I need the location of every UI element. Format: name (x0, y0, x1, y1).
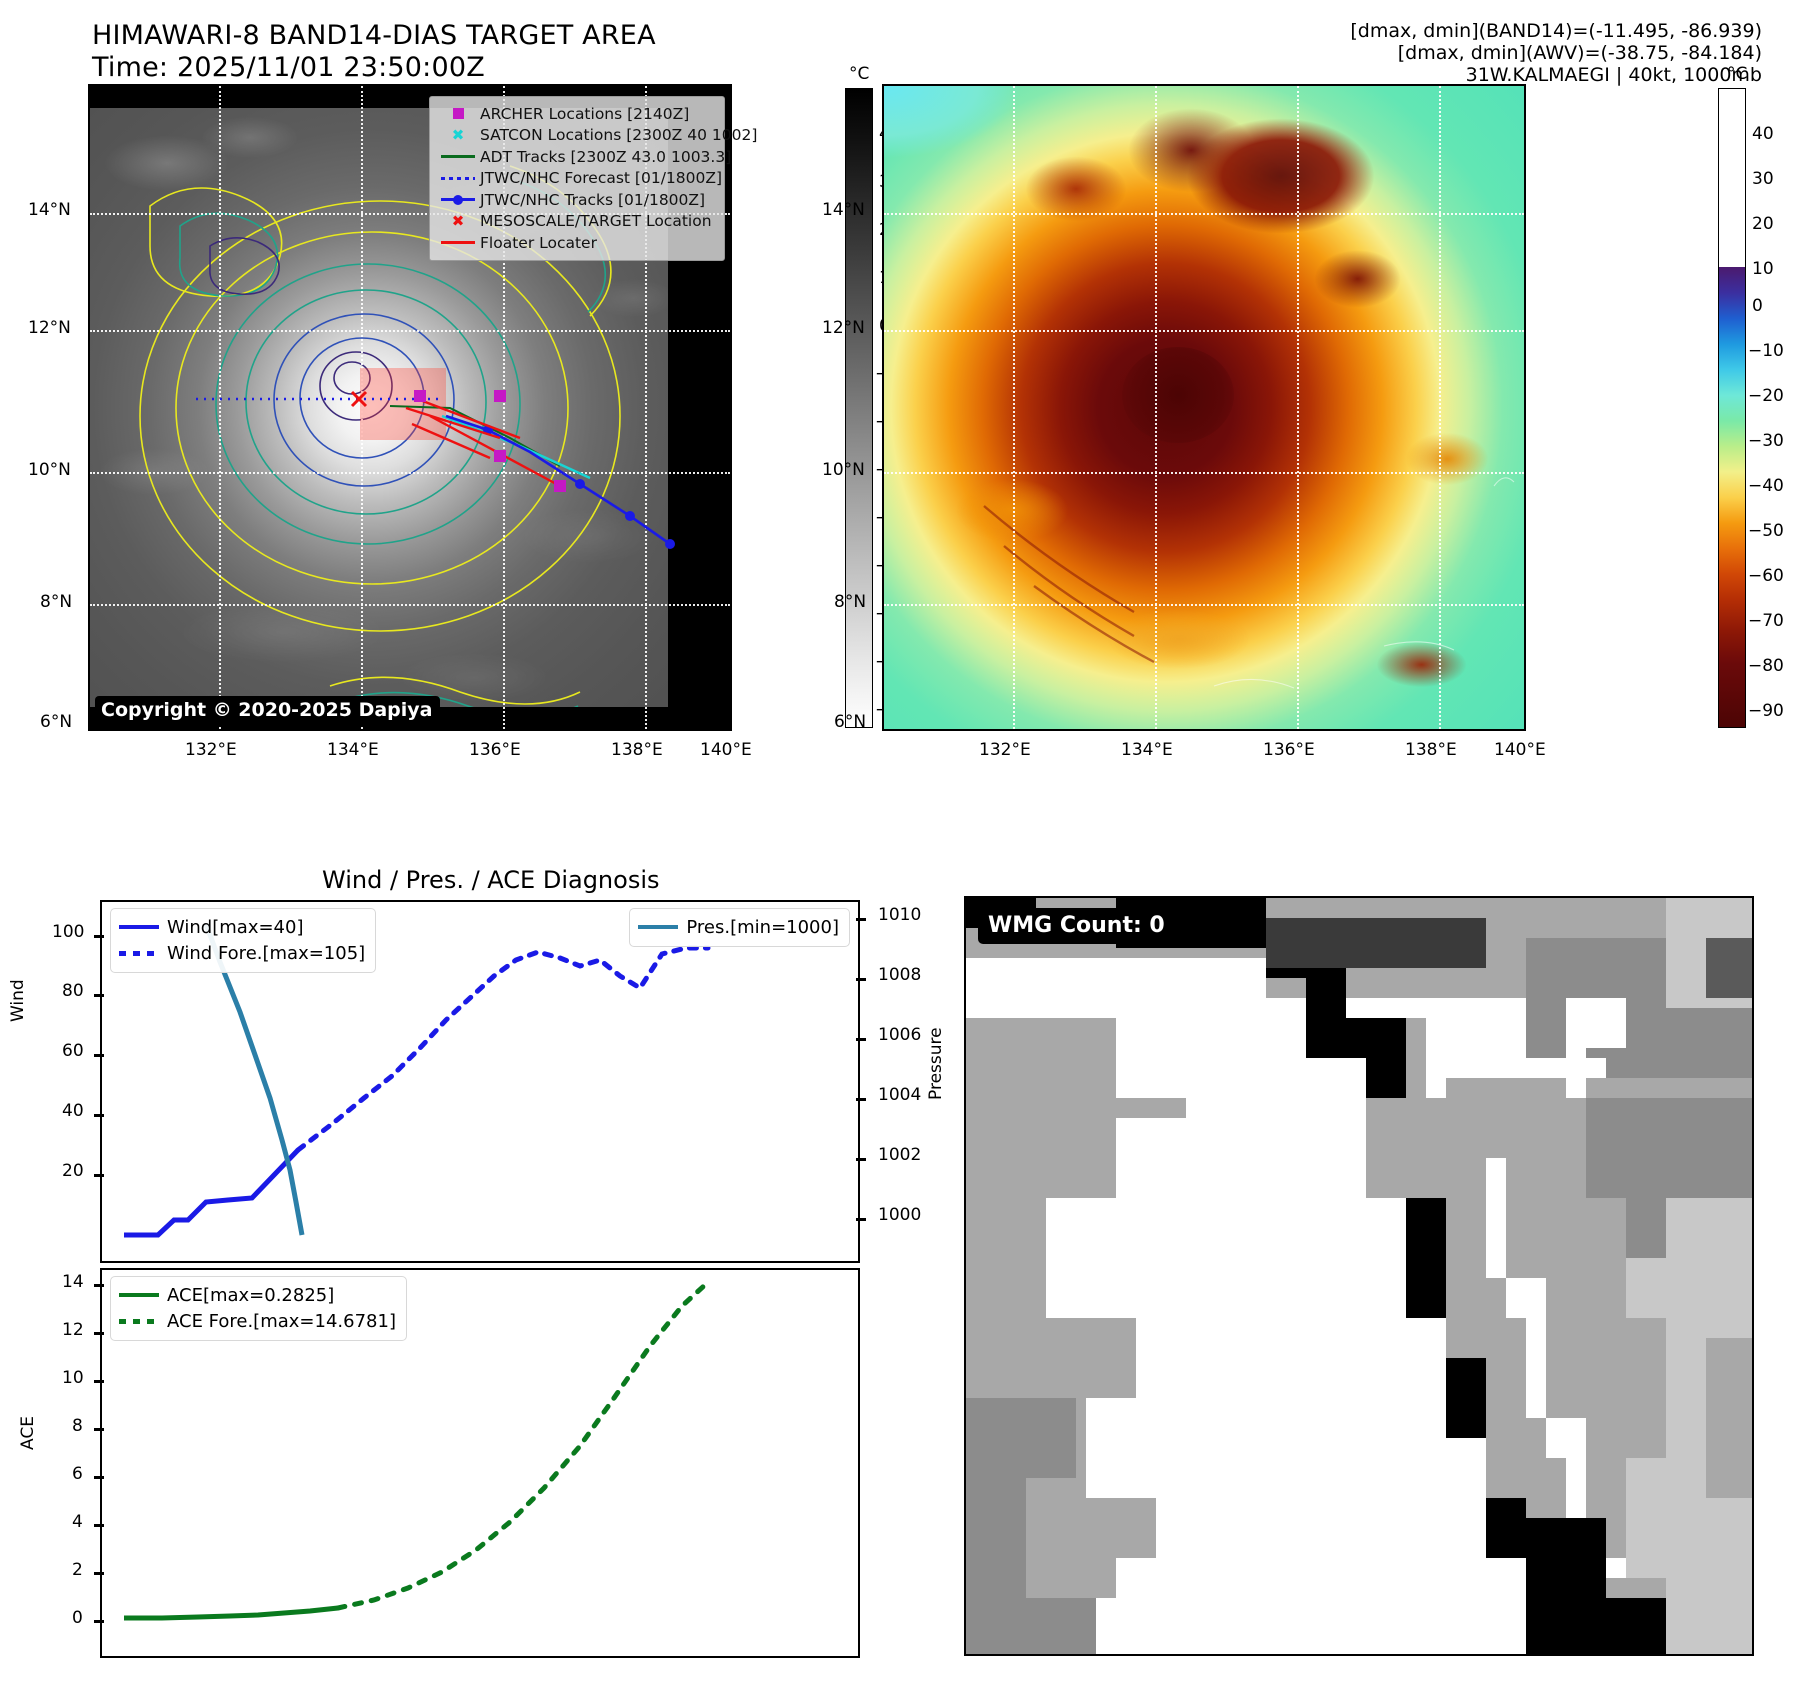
band14-colorbar (845, 88, 873, 728)
pressure-ytick (856, 1098, 866, 1101)
diagnosis-chart-title: Wind / Pres. / ACE Diagnosis (322, 866, 660, 894)
legend-label: ARCHER Locations [2140Z] (480, 105, 689, 123)
awv-lon-tick: 134°E (1121, 740, 1173, 760)
ace-legend[interactable]: ACE[max=0.2825] ACE Fore.[max=14.6781] (110, 1276, 407, 1341)
pressure-ytick (856, 978, 866, 981)
awv-gridline-lat (884, 213, 1524, 215)
wind-ytick-label: 20 (62, 1161, 84, 1181)
pressure-ytick (856, 918, 866, 921)
ace-ytick (94, 1284, 104, 1287)
pressure-ytick (856, 1218, 866, 1221)
legend-label: Pres.[min=1000] (686, 917, 839, 938)
pressure-ytick-label: 1002 (878, 1145, 921, 1165)
band14-lon-tick: 136°E (469, 740, 521, 760)
wind-observed-line (124, 1150, 298, 1235)
floater-line-icon (436, 232, 480, 254)
awv-cbar-tick: −50 (1748, 521, 1784, 541)
wmg-count-badge: WMG Count: 0 (978, 908, 1177, 944)
adt-line-icon (436, 146, 480, 168)
pressure-ytick-label: 1000 (878, 1205, 921, 1225)
legend-label: ADT Tracks [2300Z 43.0 1003.3] (480, 148, 731, 166)
band14-lat-tick: 8°N (40, 592, 72, 612)
legend-label: SATCON Locations [2300Z 40 1002] (480, 126, 757, 144)
wind-ytick-label: 60 (62, 1041, 84, 1061)
header-storm-info: 31W.KALMAEGI | 40kt, 1000mb (1466, 64, 1762, 86)
legend-label: ACE Fore.[max=14.6781] (167, 1311, 396, 1332)
wind-legend[interactable]: Wind[max=40] Wind Fore.[max=105] (110, 908, 376, 973)
legend-item-jtwc-forecast[interactable]: JTWC/NHC Forecast [01/1800Z] (436, 168, 716, 190)
ace-ytick (94, 1572, 104, 1575)
wind-pressure-chart[interactable]: Wind[max=40] Wind Fore.[max=105] Pres.[m… (100, 900, 860, 1263)
legend-label: Floater Locater (480, 234, 597, 252)
awv-gridline-lon (1297, 86, 1299, 729)
ace-ytick (94, 1428, 104, 1431)
pressure-axis-label: Pressure (926, 1027, 946, 1100)
ace-ytick-label: 2 (72, 1560, 83, 1580)
legend-label: JTWC/NHC Forecast [01/1800Z] (480, 169, 722, 187)
awv-lon-tick: 132°E (979, 740, 1031, 760)
awv-lat-tick: 10°N (822, 460, 865, 480)
awv-satellite-image[interactable] (884, 86, 1524, 729)
awv-cbar-tick: −20 (1748, 386, 1784, 406)
awv-cbar-tick: −90 (1748, 701, 1784, 721)
band14-legend[interactable]: ARCHER Locations [2140Z] ✖ SATCON Locati… (429, 96, 725, 261)
band14-lat-tick: 10°N (28, 460, 71, 480)
wind-forecast-line (298, 948, 708, 1150)
legend-item-ace-forecast[interactable]: ACE Fore.[max=14.6781] (119, 1308, 396, 1334)
wind-ytick-label: 100 (52, 922, 84, 942)
header-dmax-awv: [dmax, dmin](AWV)=(-38.75, -84.184) (1398, 42, 1762, 64)
pressure-ytick-label: 1008 (878, 965, 921, 985)
ace-solid-line-icon (119, 1293, 167, 1297)
archer-square-icon (436, 103, 480, 125)
awv-lat-tick: 6°N (834, 712, 866, 732)
awv-cbar-tick: 40 (1752, 124, 1774, 144)
awv-gridline-lat (884, 472, 1524, 474)
awv-gridline-lon (1013, 86, 1015, 729)
band14-lon-tick: 138°E (611, 740, 663, 760)
ace-observed-line (124, 1608, 338, 1618)
awv-colorbar-unit: °C (1727, 64, 1747, 84)
ace-ytick-label: 8 (72, 1416, 83, 1436)
wind-solid-line-icon (119, 925, 167, 929)
legend-item-wind[interactable]: Wind[max=40] (119, 914, 365, 940)
band14-lat-tick: 12°N (28, 318, 71, 338)
band14-lat-tick: 14°N (28, 200, 71, 220)
awv-lat-tick: 14°N (822, 200, 865, 220)
awv-lat-tick: 8°N (834, 592, 866, 612)
wind-ytick-label: 80 (62, 981, 84, 1001)
awv-gridline-lat (884, 604, 1524, 606)
ace-ytick (94, 1620, 104, 1623)
awv-cbar-tick: −10 (1748, 341, 1784, 361)
mesoscale-x-icon: ✖ (436, 211, 480, 233)
legend-item-satcon[interactable]: ✖ SATCON Locations [2300Z 40 1002] (436, 125, 716, 147)
ace-ytick-label: 14 (62, 1272, 84, 1292)
ace-ytick-label: 12 (62, 1320, 84, 1340)
wind-ytick (94, 1054, 104, 1057)
wind-ytick (94, 1174, 104, 1177)
awv-lon-tick: 136°E (1263, 740, 1315, 760)
legend-label: Wind Fore.[max=105] (167, 943, 365, 964)
wind-axis-label: Wind (8, 979, 28, 1022)
ace-ytick (94, 1476, 104, 1479)
pressure-legend[interactable]: Pres.[min=1000] (629, 908, 850, 947)
wind-ytick (94, 935, 104, 938)
page-subtitle-time: Time: 2025/11/01 23:50:00Z (92, 52, 485, 83)
awv-gridline-lon (1439, 86, 1441, 729)
legend-label: JTWC/NHC Tracks [01/1800Z] (480, 191, 705, 209)
band14-lon-tick: 134°E (327, 740, 379, 760)
pressure-ytick-label: 1004 (878, 1085, 921, 1105)
awv-gridline-lon (1155, 86, 1157, 729)
awv-gridline-lat (884, 330, 1524, 332)
pressure-ytick (856, 1158, 866, 1161)
wmg-panel[interactable]: WMG Count: 0 (964, 896, 1754, 1656)
pressure-solid-line-icon (638, 925, 686, 929)
awv-lat-tick: 12°N (822, 318, 865, 338)
ace-dotted-line-icon (119, 1319, 167, 1324)
ace-ytick (94, 1332, 104, 1335)
jtwc-forecast-dots-icon (436, 168, 480, 190)
awv-cbar-tick: −30 (1748, 431, 1784, 451)
awv-cbar-tick: −70 (1748, 611, 1784, 631)
band14-lon-tick: 140°E (700, 740, 752, 760)
ace-ytick (94, 1380, 104, 1383)
ace-axis-label: ACE (18, 1416, 38, 1450)
legend-item-wind-forecast[interactable]: Wind Fore.[max=105] (119, 940, 365, 966)
legend-item-pressure[interactable]: Pres.[min=1000] (638, 914, 839, 940)
page-title: HIMAWARI-8 BAND14-DIAS TARGET AREA (92, 20, 656, 51)
legend-item-floater[interactable]: Floater Locater (436, 232, 716, 254)
wind-ytick (94, 1114, 104, 1117)
wmg-grayscale-map (966, 898, 1752, 1654)
awv-banding-detail (884, 86, 1524, 729)
legend-item-archer[interactable]: ARCHER Locations [2140Z] (436, 103, 716, 125)
ace-ytick-label: 4 (72, 1512, 83, 1532)
pressure-ytick-label: 1006 (878, 1025, 921, 1045)
ace-ytick-label: 6 (72, 1464, 83, 1484)
awv-cbar-tick: −40 (1748, 476, 1784, 496)
legend-item-jtwc-tracks[interactable]: JTWC/NHC Tracks [01/1800Z] (436, 189, 716, 211)
awv-lon-tick: 138°E (1405, 740, 1457, 760)
ace-ytick-label: 0 (72, 1608, 83, 1628)
satcon-x-icon: ✖ (436, 125, 480, 147)
legend-label: MESOSCALE/TARGET Location (480, 212, 712, 230)
awv-cbar-tick: −80 (1748, 656, 1784, 676)
jtwc-track-line-dot-icon (436, 189, 480, 211)
awv-cbar-tick: 10 (1752, 259, 1774, 279)
header-dmax-band14: [dmax, dmin](BAND14)=(-11.495, -86.939) (1350, 20, 1762, 42)
wind-ytick-label: 40 (62, 1101, 84, 1121)
copyright-text: Copyright © 2020-2025 Dapiya (95, 696, 440, 725)
wind-dotted-line-icon (119, 951, 167, 956)
ace-ytick (94, 1524, 104, 1527)
awv-cbar-tick: −60 (1748, 566, 1784, 586)
band14-lat-tick: 6°N (40, 712, 72, 732)
pressure-ytick-label: 1010 (878, 905, 921, 925)
ace-chart[interactable]: ACE[max=0.2825] ACE Fore.[max=14.6781] (100, 1268, 860, 1658)
band14-lon-tick: 132°E (185, 740, 237, 760)
awv-lon-tick: 140°E (1494, 740, 1546, 760)
awv-cbar-tick: 20 (1752, 214, 1774, 234)
dashboard-root: HIMAWARI-8 BAND14-DIAS TARGET AREA Time:… (0, 0, 1797, 1690)
awv-colorbar (1718, 88, 1746, 728)
legend-item-ace[interactable]: ACE[max=0.2825] (119, 1282, 396, 1308)
pressure-ytick (856, 1038, 866, 1041)
legend-item-adt[interactable]: ADT Tracks [2300Z 43.0 1003.3] (436, 146, 716, 168)
band14-colorbar-unit: °C (849, 64, 869, 84)
legend-item-mesoscale[interactable]: ✖ MESOSCALE/TARGET Location (436, 211, 716, 233)
awv-cbar-tick: 30 (1752, 169, 1774, 189)
legend-label: ACE[max=0.2825] (167, 1285, 334, 1306)
wind-ytick (94, 994, 104, 997)
ace-ytick-label: 10 (62, 1368, 84, 1388)
awv-cbar-tick: 0 (1752, 296, 1763, 316)
legend-label: Wind[max=40] (167, 917, 304, 938)
